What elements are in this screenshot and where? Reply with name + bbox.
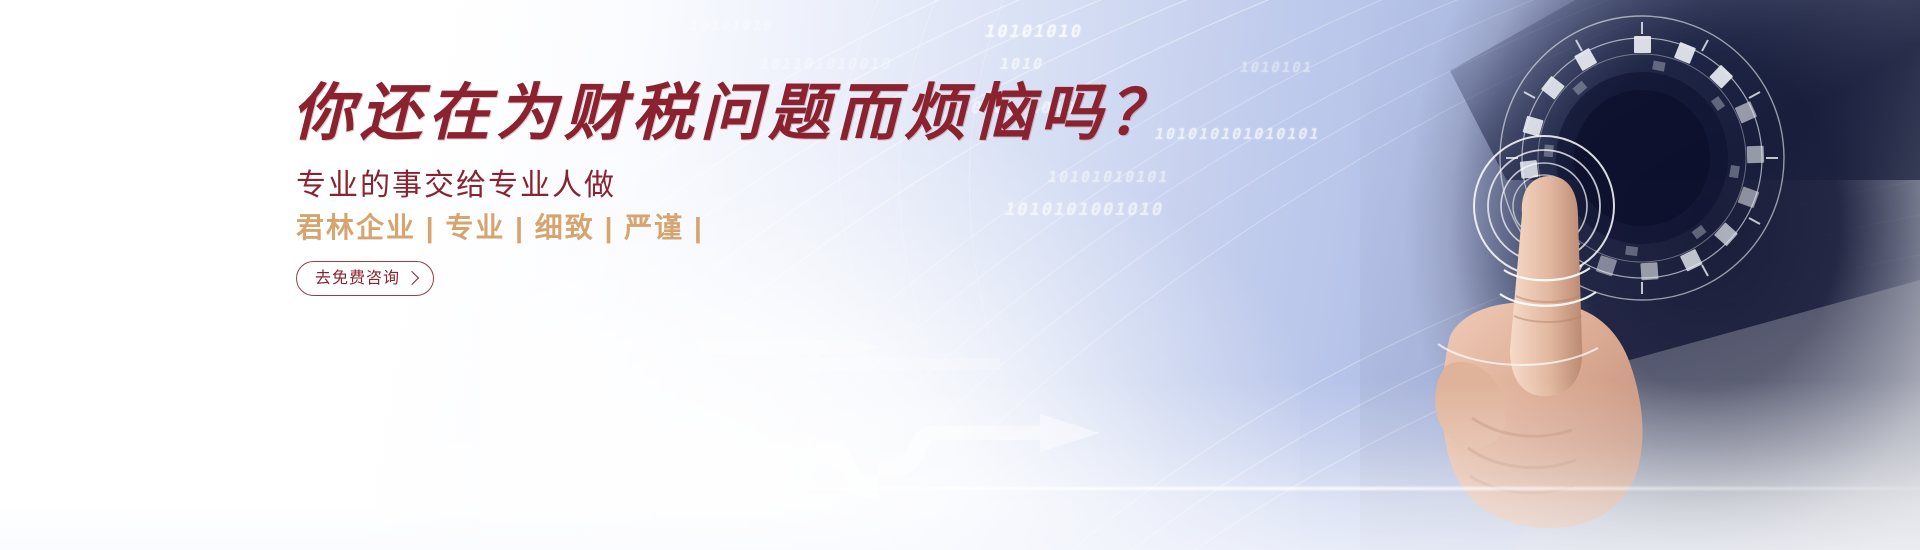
cta-label: 去免费咨询	[315, 271, 400, 287]
hero-banner: 10101010 1010 1010101010 101010101010101…	[0, 0, 1920, 550]
chevron-right-icon	[405, 271, 419, 285]
page-title: 你还在为财税问题而烦恼吗？	[292, 62, 1176, 152]
hero-content: 你还在为财税问题而烦恼吗？ 专业的事交给专业人做 君林企业 | 专业 | 细致 …	[0, 0, 1000, 550]
hero-subtitle: 专业的事交给专业人做	[296, 160, 616, 204]
free-consultation-button[interactable]: 去免费咨询	[296, 261, 434, 296]
hero-tagline: 君林企业 | 专业 | 细致 | 严谨 |	[296, 206, 704, 246]
